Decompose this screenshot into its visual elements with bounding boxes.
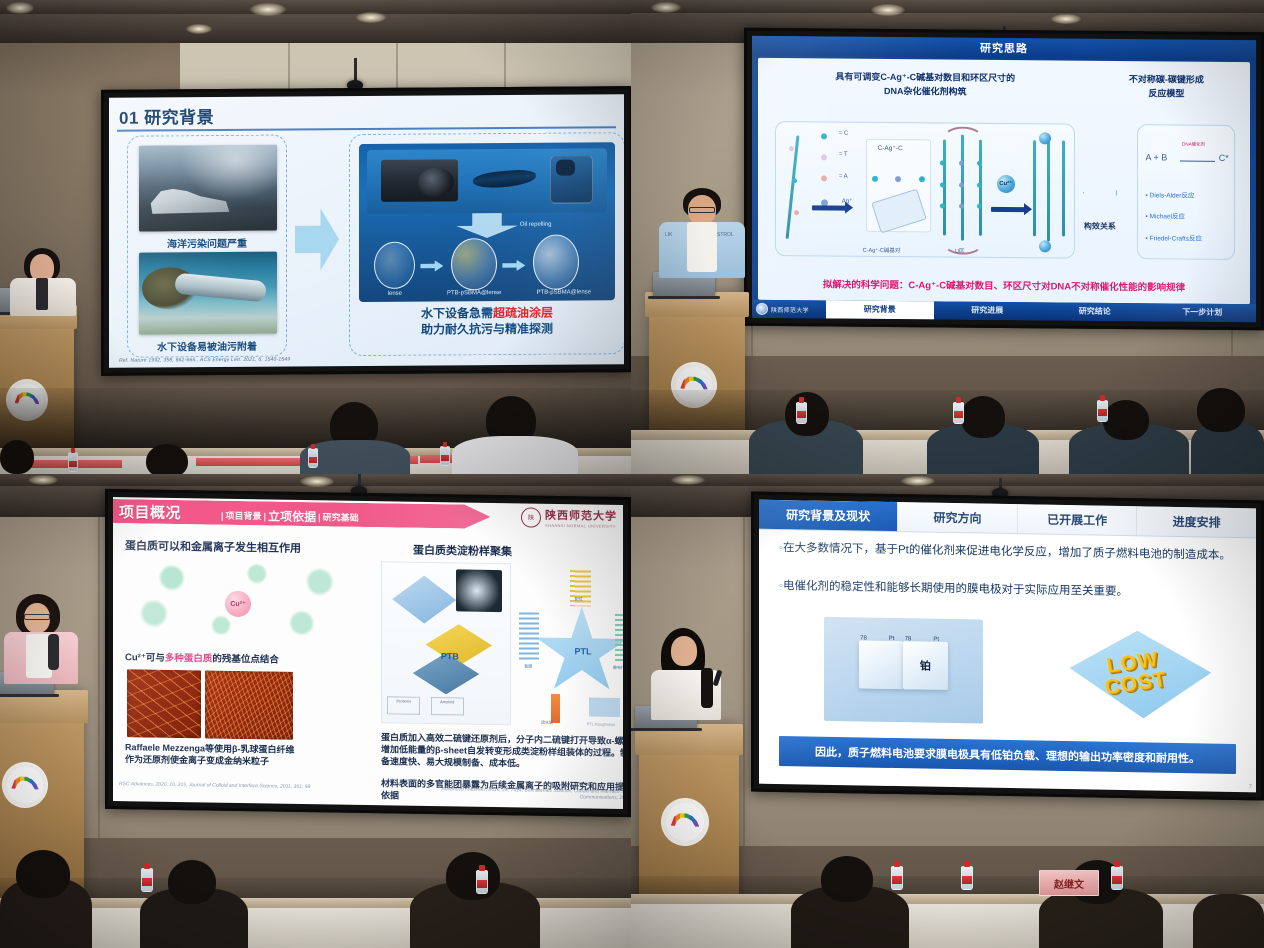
proteins-chip: Proteins [387, 697, 420, 715]
element-number-right: 78 [905, 636, 912, 642]
duplex-dot [977, 182, 982, 187]
legend-dot-c [821, 133, 827, 139]
audience-shoulder [452, 436, 578, 474]
heading-right-line1: 不对称碳-碳键形成 [1129, 74, 1204, 85]
duplex-dot-ag [959, 204, 964, 209]
projection-screen-1: 01 研究背景 海洋污染问题严重 水下设备易被油污附着 [101, 86, 631, 376]
duplex-strand-a [943, 139, 946, 235]
wall-seam [743, 496, 745, 846]
product-strand-b [1047, 135, 1050, 242]
lens-coated-1 [451, 238, 497, 290]
university-seal-icon: 陕 [521, 507, 541, 527]
cu-ion-icon: Cu²⁺ [997, 175, 1015, 193]
bullet-0: ◦在大多数情况下，基于Pt的催化剂来促进电化学反应，增加了质子燃料电池的制造成本… [779, 540, 1236, 565]
ceiling-light [356, 12, 386, 23]
bottle-cap [479, 865, 485, 872]
right-column-body-1: 蛋白质加入高效二硫键还原剂后，分子内二硫键打开导致α-螺旋增加低能量的β-she… [381, 731, 623, 771]
audience-member [16, 850, 70, 898]
bottle-cap [1114, 861, 1120, 868]
step-arrow-icon [502, 260, 525, 271]
right-column-heading: 蛋白质类淀粉样聚集 [413, 542, 512, 560]
mechanism-diagram-card: = C = T = A Ag⁺ C-Ag⁺-C [775, 121, 1075, 259]
bullet-1: ◦电催化剂的稳定性和能够长期使用的膜电极对于实际应用至关重要。 [779, 578, 1236, 603]
cu-bound-top [1039, 132, 1051, 144]
slide-3-subtabs: | 项目背景 | 立项依据 | 研究基础 [221, 507, 361, 526]
slide-2-left-heading: 具有可调变C-Ag⁺-C碱基对数目和环区尺寸的 DNA杂化催化剂构筑 [778, 70, 1073, 100]
label-lens-2: PTB-pSBMA@lense [518, 290, 610, 297]
ladder-icon-right [615, 613, 623, 662]
camera-arm [354, 58, 357, 82]
bottle-cap [144, 863, 150, 870]
pt-cube-right: 铂 [903, 641, 948, 690]
water-bottle [796, 402, 807, 424]
slide-1-title: 01 研究背景 [119, 103, 214, 129]
ptb-schematic: PTB Proteins Amyloid [381, 561, 511, 725]
projection-screen-4: 研究背景及现状 研究方向 已开展工作 进度安排 ◦在大多数情况下，基于Pt的催化… [751, 492, 1264, 801]
cu-bound-bottom [1039, 240, 1051, 252]
desk-nameplate-strip [196, 458, 308, 466]
question-text: C-Ag⁺-C碱基对数目、环区尺寸对DNA不对称催化性能的影响规律 [908, 280, 1185, 293]
bottle-label [477, 880, 487, 887]
legend-label-t: = T [839, 152, 848, 158]
university-seal-logo [661, 798, 709, 846]
slide-4-body: ◦在大多数情况下，基于Pt的催化剂来促进电化学反应，增加了质子燃料电池的制造成本… [759, 530, 1256, 793]
bottle-cap [799, 397, 804, 403]
slide-2-right-heading: 不对称碳-碳键形成 反应模型 [1093, 73, 1241, 102]
university-seal-logo [2, 762, 48, 808]
audience-member [446, 852, 500, 900]
ceiling-strip [0, 0, 631, 14]
duplex-dot-ag [959, 182, 964, 187]
ceiling-light [901, 476, 935, 486]
ptl-label-electro: 静电作用 [613, 665, 623, 671]
ceiling-light [28, 475, 58, 485]
relation-label: 构效关系 [1073, 220, 1127, 231]
reaction-model-card: A + B DNA催化剂 C* • Diels-Alder反应 • Michae… [1137, 124, 1235, 260]
platinum-cube-image: 铂 78 Pt 78 Pt [824, 617, 983, 724]
footer-tab-3[interactable]: 下一步计划 [1149, 303, 1257, 322]
caption-ocean: 海洋污染问题严重 [127, 235, 287, 251]
device-row [367, 149, 608, 214]
rainbow-mark-icon [671, 812, 700, 831]
equation-arrow [1180, 160, 1215, 161]
audience-member [1103, 400, 1149, 440]
heading-left-line2: DNA杂化催化剂构筑 [884, 86, 967, 97]
bottle-label [441, 455, 449, 461]
duplex-strand-b [961, 134, 964, 241]
loop-region-top [943, 126, 983, 150]
water-bottle [961, 866, 973, 890]
speaker-1 [8, 248, 80, 312]
device-coating-figure: Oil repelling lense PTB-pSBMA@lense PTB-… [359, 142, 615, 302]
water-bottle [141, 868, 153, 892]
laptop-base [648, 296, 720, 300]
glasses-icon [24, 614, 50, 620]
legend-dot-t [821, 154, 827, 160]
photo-ocean-pollution [139, 145, 277, 232]
nav-tab-2[interactable]: 已开展工作 [1018, 504, 1138, 535]
speaker-4 [645, 628, 729, 724]
conclusion-highlight: 超疏油涂层 [493, 306, 553, 320]
photo-grid: 01 研究背景 海洋污染问题严重 水下设备易被油污附着 [0, 0, 1264, 948]
ceiling-light [300, 476, 334, 487]
slide-2-question: 拟解决的科学问题：C-Ag⁺-C碱基对数目、环区尺寸对DNA不对称催化性能的影响… [758, 276, 1250, 294]
ladder-icon-left [519, 612, 538, 661]
phone-icon [550, 155, 593, 203]
base-dot-t [789, 146, 794, 151]
product-strand-a [1033, 140, 1036, 236]
equation-right: C* [1219, 152, 1229, 162]
low-cost-image: LOW COST [1057, 619, 1211, 728]
base-dot-a [794, 210, 799, 215]
slide-2-body: 具有可调变C-Ag⁺-C碱基对数目和环区尺寸的 DNA杂化催化剂构筑 不对称碳-… [758, 58, 1250, 304]
jacket-print-left: LIK [665, 232, 687, 238]
product-strand-c [1062, 140, 1065, 236]
bottle-label [309, 457, 317, 463]
element-symbol-left: Pt [889, 636, 895, 642]
lens-bare [374, 242, 415, 290]
water-bottle [1097, 400, 1108, 422]
logo-text-block: 陕西师范大学 SHAANXI NORMAL UNIVERSITY [545, 507, 617, 529]
slide-2-header: 研究思路 [752, 36, 1256, 60]
subtab-0[interactable]: 项目背景 [224, 509, 264, 523]
nav-tab-1[interactable]: 研究方向 [898, 502, 1018, 533]
afm-image-b [205, 670, 293, 739]
water-bottle [891, 866, 903, 890]
pair-dot-c [872, 176, 878, 182]
sunglasses-icon [472, 168, 536, 190]
duplex-dot [940, 182, 945, 187]
duplex-strand-c [979, 140, 982, 236]
ceiling-light [871, 4, 905, 16]
left-column-body: Raffaele Mezzenga等使用β-乳球蛋白纤维作为还原剂使金离子变成金… [125, 741, 303, 768]
slide-2: 研究思路 具有可调变C-Ag⁺-C碱基对数目和环区尺寸的 DNA杂化催化剂构筑 … [752, 36, 1256, 322]
bottle-cap [443, 442, 448, 447]
ptl-label-roughness: PTL Roughness [587, 721, 616, 726]
pair-caption: C-Ag⁺-C碱基对 [863, 246, 901, 254]
pt-cube-left [859, 641, 904, 690]
audience-member [1197, 388, 1245, 432]
ceiling-light [250, 3, 286, 16]
dna-strand [786, 136, 800, 240]
equation-left: A + B [1146, 152, 1168, 162]
hydrophobic-bar-icon [551, 693, 561, 722]
glasses-icon [689, 207, 715, 213]
audience-desk-front [631, 904, 1264, 948]
ptl-label-coord: 配位 [575, 597, 583, 603]
footer-university-name: 陕西师范大学 [771, 304, 809, 313]
slide-3: 项目概况 | 项目背景 | 立项依据 | 研究基础 陕 陕西师范大学 SHAAN… [113, 497, 623, 809]
projection-screen-2: 研究思路 具有可调变C-Ag⁺-C碱基对数目和环区尺寸的 DNA杂化催化剂构筑 … [744, 28, 1264, 331]
bottle-cap [894, 861, 900, 868]
projection-screen-3: 项目概况 | 项目背景 | 立项依据 | 研究基础 陕 陕西师范大学 SHAAN… [105, 489, 631, 817]
conclusion-part-2: 助力耐久抗污与精准探测 [421, 322, 553, 337]
transition-arrow-icon [295, 208, 339, 270]
university-seal-icon [756, 303, 768, 315]
camera-icon [381, 160, 458, 202]
element-symbol-right: Pt [933, 637, 939, 643]
element-number-left: 78 [860, 635, 867, 641]
slide-4-page-number: 7 [1249, 784, 1252, 790]
ceiling-light [1051, 14, 1081, 24]
speaker-hair-side [701, 668, 713, 708]
speaker-inner-top [36, 278, 48, 310]
water-bottle [1111, 866, 1123, 890]
footer-tab-0[interactable]: 研究背景 [826, 300, 934, 319]
audience-member [168, 860, 216, 904]
legend-dot-a [821, 176, 827, 182]
audience-member [821, 856, 873, 902]
pair-box-label: C-Ag⁺-C [878, 144, 903, 152]
reaction-item-1: • Michael反应 [1146, 211, 1186, 221]
audience-desk [631, 894, 1264, 904]
ptl-label: PTL [563, 639, 604, 666]
bottle-cap [956, 397, 961, 403]
ptl-schematic: PTL 配位 氢键 静电作用 疏水键 PTL Roughness [517, 563, 623, 727]
water-bottle [953, 402, 964, 424]
bottle-cap [1100, 395, 1105, 401]
ptl-label-hbond: 氢键 [524, 664, 532, 670]
slide-1-conclusion: 水下设备急需超疏油涂层 助力耐久抗污与精准探测 [349, 304, 624, 338]
label-lens-1: PTB-pSBMA@lense [431, 290, 518, 297]
university-name: 陕西师范大学 [545, 507, 617, 524]
ptb-sheet-1 [392, 575, 456, 624]
speaker-head [671, 636, 697, 666]
slide-4: 研究背景及现状 研究方向 已开展工作 进度安排 ◦在大多数情况下，基于Pt的催化… [759, 500, 1256, 793]
ceiling-strip [631, 0, 1264, 13]
bottle-label [1112, 876, 1122, 883]
lens-coated-2 [533, 234, 579, 290]
relation-arrow-icon [1083, 182, 1117, 204]
quadrant-bottom-right: 研究背景及现状 研究方向 已开展工作 进度安排 ◦在大多数情况下，基于Pt的催化… [631, 474, 1264, 948]
audience-member [961, 396, 1005, 438]
footer-tab-1[interactable]: 研究进展 [934, 301, 1042, 320]
question-label: 拟解决的科学问题： [823, 280, 909, 292]
ceiling-light [671, 475, 705, 485]
nav-tab-3[interactable]: 进度安排 [1137, 506, 1256, 537]
heading-right-line2: 反应模型 [1148, 88, 1184, 98]
equation-catalyst: DNA催化剂 [1182, 141, 1205, 147]
bottle-label [1098, 409, 1107, 416]
photo-underwater-pipe [139, 252, 277, 335]
rainbow-mark-icon [11, 776, 38, 794]
conclusion-part-1: 水下设备急需 [421, 306, 493, 321]
laptop-base [0, 694, 59, 698]
audience-member [785, 392, 829, 436]
bottle-cap [71, 448, 76, 453]
slide-3-university-logo: 陕 陕西师范大学 SHAANXI NORMAL UNIVERSITY [521, 506, 617, 529]
laptop-base [631, 728, 702, 732]
bottle-cap [311, 444, 316, 449]
caption-part-b: 的残基位点结合 [212, 654, 279, 666]
reaction-item-2: • Friedel-Crafts反应 [1146, 232, 1202, 242]
speaker-3 [4, 594, 82, 688]
caption-part-a: Cu²⁺可与 [125, 652, 165, 664]
left-column-reference: RSC Advances, 2020, 10, 215, Journal of … [119, 781, 310, 790]
low-cost-text: LOW COST [1100, 647, 1169, 700]
ceiling-light [651, 2, 681, 13]
caption-highlight: 多种蛋白质 [165, 653, 213, 665]
wall-seam [98, 498, 100, 838]
ceiling-strip [631, 474, 1264, 486]
footer-tab-2[interactable]: 研究结论 [1041, 302, 1149, 321]
label-lens-0: lense [364, 291, 425, 297]
bottle-label [142, 878, 152, 885]
water-bottle [440, 446, 450, 466]
slide-3-title: 项目概况 [119, 501, 181, 523]
quadrant-top-right: 研究思路 具有可调变C-Ag⁺-C碱基对数目和环区尺寸的 DNA杂化催化剂构筑 … [631, 0, 1264, 474]
slide-1: 01 研究背景 海洋污染问题严重 水下设备易被油污附着 [109, 94, 624, 368]
label-oil-repelling: Oil repelling [502, 222, 569, 228]
ceiling-light [6, 2, 34, 14]
left-column-caption: Cu²⁺可与多种蛋白质的残基位点结合 [125, 652, 279, 667]
legend-label-a: = A [839, 173, 848, 179]
cu-ion-label: Cu²⁺ [225, 591, 251, 617]
slide-2-footer-nav: 陕西师范大学 研究背景 研究进展 研究结论 下一步计划 [752, 300, 1256, 322]
step-arrow-icon [420, 260, 443, 271]
ceiling-light [186, 24, 212, 34]
slide-2-title: 研究思路 [980, 40, 1028, 56]
speaker-2: LIK STROL [659, 188, 745, 284]
bottle-label [962, 876, 972, 883]
process-arrow-2 [991, 207, 1025, 212]
water-bottle [68, 452, 78, 472]
afm-image-a [127, 669, 201, 738]
jacket-print-right: STROL [717, 232, 745, 238]
loop-caption: U区 [955, 246, 964, 254]
quadrant-bottom-left: 项目概况 | 项目背景 | 立项依据 | 研究基础 陕 陕西师范大学 SHAAN… [0, 474, 631, 948]
water-bottle [308, 448, 318, 468]
audience-member [146, 444, 188, 474]
caption-underwater: 水下设备易被油污附着 [123, 338, 291, 354]
footer-university-logo: 陕西师范大学 [752, 300, 826, 319]
shoulder-bag-strap [48, 634, 59, 670]
bottle-cap [964, 861, 970, 868]
amyloid-chip: Amyloid [431, 697, 464, 715]
element-name-right: 铂 [920, 658, 931, 674]
bottle-label [954, 411, 963, 418]
sem-inset [456, 570, 502, 612]
heading-left-line1: 具有可调变C-Ag⁺-C碱基对数目和环区尺寸的 [835, 72, 1015, 84]
base-dot-c [792, 178, 797, 183]
bottle-label [892, 876, 902, 883]
slide-4-callout: 因此，质子燃料电池要求膜电极具有低铂负载、理想的输出功率密度和耐用性。 [779, 736, 1236, 774]
subtab-1[interactable]: 立项依据 [266, 507, 318, 525]
reaction-item-0: • Diels-Alder反应 [1146, 189, 1195, 199]
audience-shoulder [1193, 894, 1264, 948]
process-arrow-1 [812, 205, 846, 210]
ptl-label-hydrophobic: 疏水键 [541, 720, 553, 726]
left-column-heading: 蛋白质可以和金属离子发生相互作用 [125, 537, 301, 556]
audience-member [0, 440, 34, 474]
roughness-patch-icon [589, 697, 620, 717]
bottle-label [69, 461, 77, 467]
speaker-shirt [687, 222, 717, 272]
bottle-label [797, 411, 806, 418]
subtab-2[interactable]: 研究基础 [321, 510, 361, 524]
water-bottle [476, 870, 488, 894]
legend-label-c: = C [839, 130, 849, 136]
ptb-label: PTB [431, 643, 469, 669]
desk-nameplate: 赵继文 [1039, 870, 1099, 896]
quadrant-top-left: 01 研究背景 海洋污染问题严重 水下设备易被油污附着 [0, 0, 631, 474]
nav-tab-0[interactable]: 研究背景及现状 [759, 500, 898, 531]
slide-2-canvas: 研究思路 具有可调变C-Ag⁺-C碱基对数目和环区尺寸的 DNA杂化催化剂构筑 … [752, 36, 1256, 322]
slide-1-reference: Ref. Nature 1992, 358, 662-665., ACS Ene… [119, 357, 290, 364]
